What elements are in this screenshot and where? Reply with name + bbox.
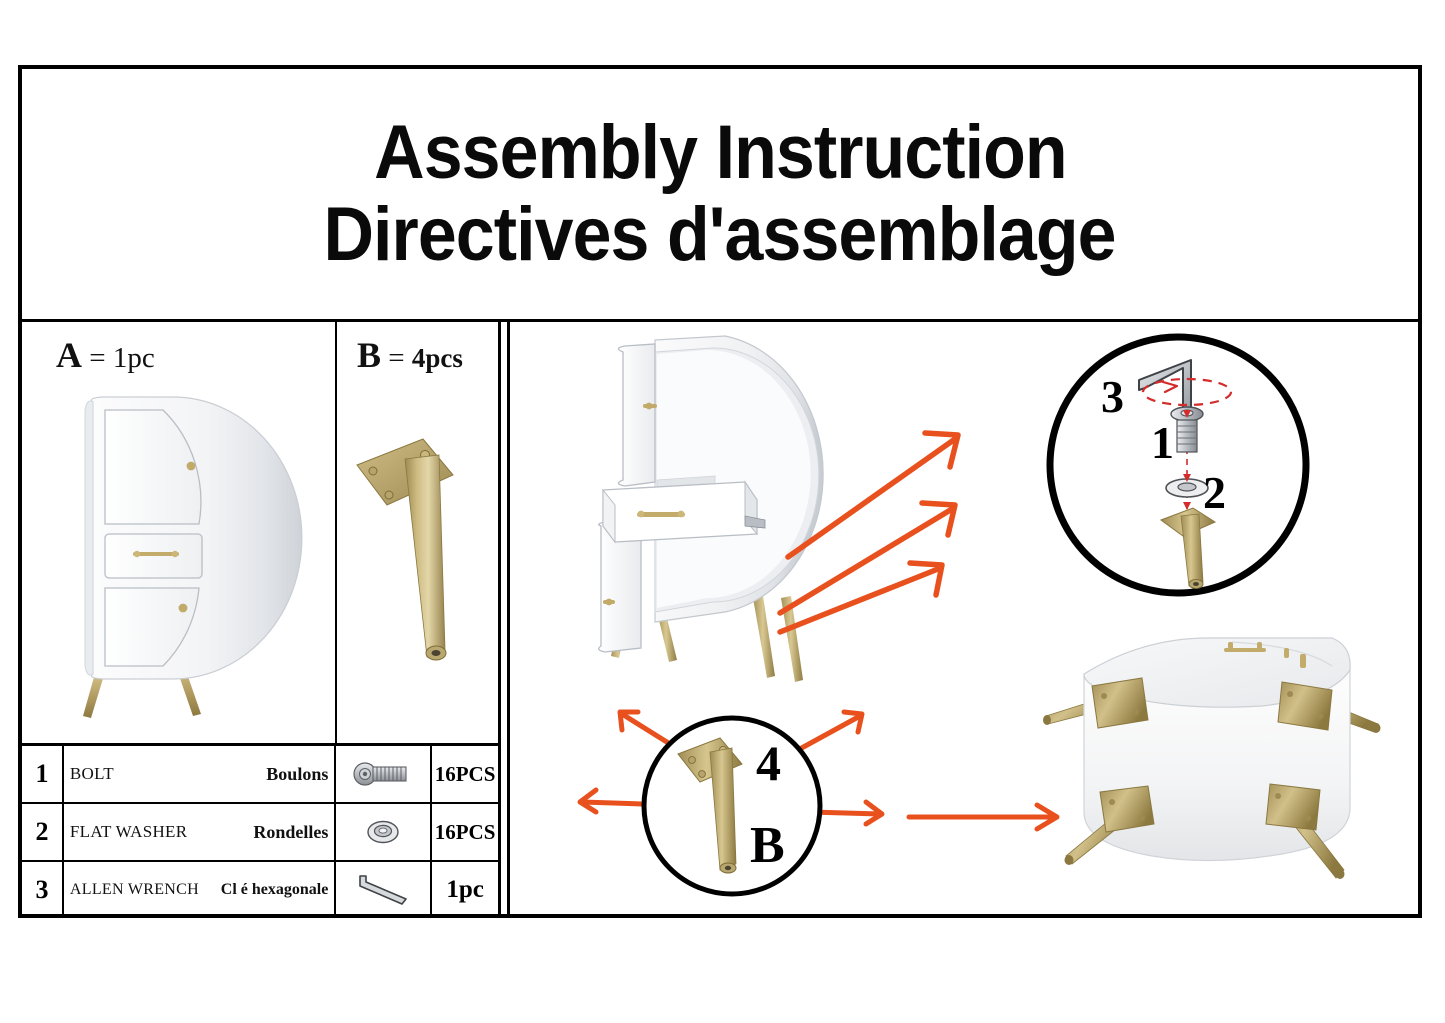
lower-section: A = 1pc xyxy=(22,322,1418,918)
row-name-fr: Boulons xyxy=(266,764,328,785)
row-description: ALLEN WRENCH Cl é hexagonale xyxy=(64,862,336,918)
step-2-label: 2 xyxy=(1203,467,1226,518)
row-description: FLAT WASHER Rondelles xyxy=(64,804,336,860)
part-a-equals: = xyxy=(89,342,105,374)
bolt-icon xyxy=(352,761,414,787)
row-number: 2 xyxy=(22,804,64,860)
row-description: BOLT Boulons xyxy=(64,746,336,802)
step-1-label: 1 xyxy=(1151,417,1174,468)
part-a-code: A xyxy=(56,335,82,375)
part-legend-b: B = 4pcs xyxy=(337,322,498,743)
assembly-diagram-panel: 3 1 2 xyxy=(507,322,1418,918)
part-a-label: A = 1pc xyxy=(56,334,155,376)
leg-code-label: B xyxy=(750,817,785,874)
allen-wrench-icon xyxy=(352,873,414,907)
part-b-equals: = xyxy=(388,342,404,374)
part-legend-a: A = 1pc xyxy=(22,322,337,743)
row-name-fr: Rondelles xyxy=(253,822,328,843)
leg-quantity-callout: 4 B 4 B xyxy=(560,702,900,912)
row-name-fr: Cl é hexagonale xyxy=(221,881,329,899)
hardware-callout-circle: 3 1 2 xyxy=(1043,330,1313,600)
row-qty: 16PCS xyxy=(432,746,498,802)
title-line-french: Directives d'assemblage xyxy=(324,196,1116,274)
part-b-code: B xyxy=(357,335,381,375)
row-qty: 1pc xyxy=(432,862,498,918)
parts-table: 1 BOLT Boulons xyxy=(22,746,498,918)
part-b-illustration xyxy=(337,378,498,739)
half-moon-cabinet-icon xyxy=(63,394,295,724)
title-line-english: Assembly Instruction xyxy=(374,114,1067,192)
row-qty: 16PCS xyxy=(432,804,498,860)
table-row: 2 FLAT WASHER Rondelles 16P xyxy=(22,804,498,862)
leg-count-label: 4 xyxy=(756,735,781,791)
document-frame: Assembly Instruction Directives d'assemb… xyxy=(18,65,1422,918)
parts-legend-row: A = 1pc xyxy=(22,322,498,746)
row-name-en: BOLT xyxy=(70,764,114,784)
hardware-detail-callout: 3 1 2 xyxy=(1043,330,1313,600)
row-number: 3 xyxy=(22,862,64,918)
part-b-label: B = 4pcs xyxy=(357,334,463,376)
part-a-illustration xyxy=(22,378,335,739)
row-icon-cell xyxy=(336,804,432,860)
washer-icon xyxy=(363,818,403,846)
gold-tapered-leg-icon xyxy=(343,419,493,699)
assembled-cabinet-illustration xyxy=(1032,612,1418,902)
parts-column: A = 1pc xyxy=(22,322,501,918)
row-number: 1 xyxy=(22,746,64,802)
row-name-en: FLAT WASHER xyxy=(70,822,187,842)
table-row: 1 BOLT Boulons xyxy=(22,746,498,804)
step-3-label: 3 xyxy=(1101,371,1124,422)
row-icon-cell xyxy=(336,862,432,918)
title-band: Assembly Instruction Directives d'assemb… xyxy=(22,69,1418,322)
row-name-en: ALLEN WRENCH xyxy=(70,881,199,899)
table-row: 3 ALLEN WRENCH Cl é hexagonale 1pc xyxy=(22,862,498,918)
leg-callout-circle: 4 B xyxy=(560,702,900,912)
row-icon-cell xyxy=(336,746,432,802)
instruction-sheet-page: Assembly Instruction Directives d'assemb… xyxy=(0,0,1445,1023)
part-a-qty: 1pc xyxy=(113,342,155,374)
part-b-qty: 4pcs xyxy=(412,343,463,373)
